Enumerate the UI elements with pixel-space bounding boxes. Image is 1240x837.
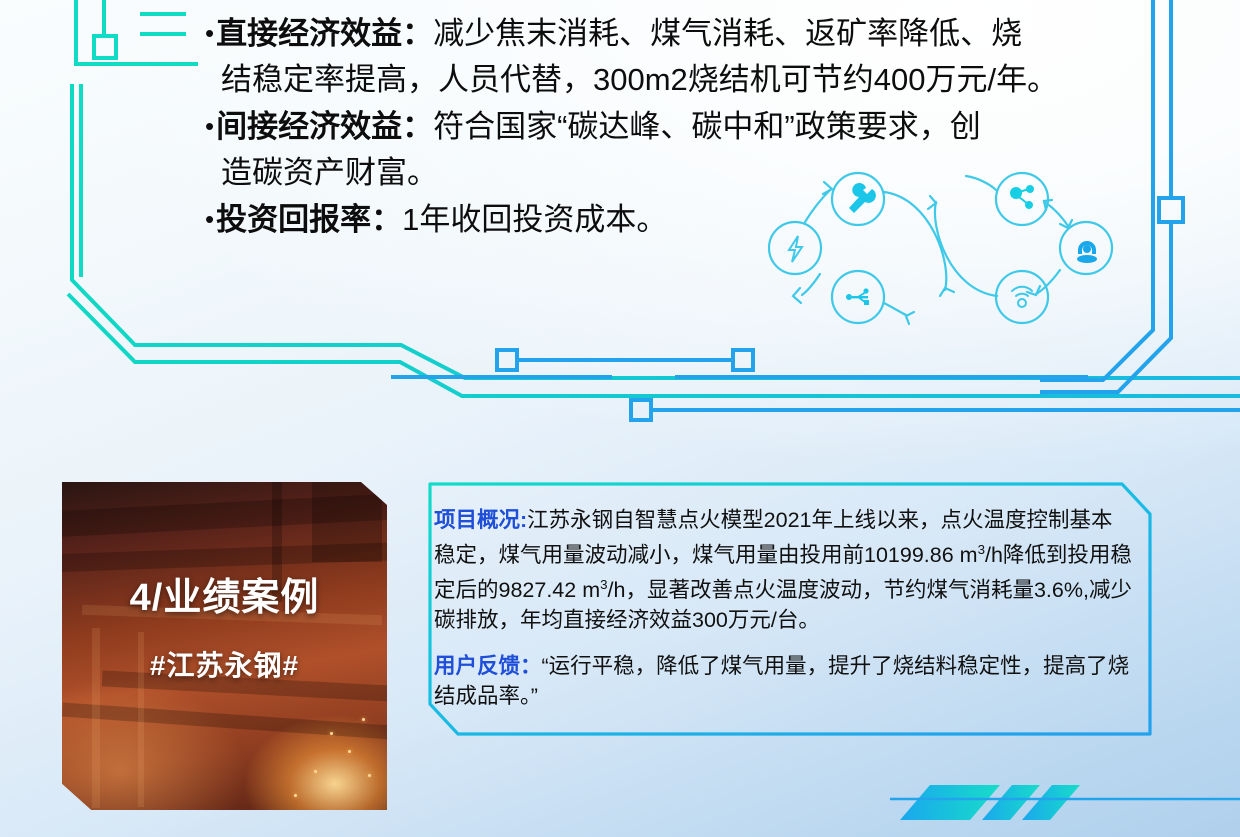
case-photo-subtitle: #江苏永钢# (62, 644, 387, 684)
project-overview-sup-a: 3 (978, 542, 985, 557)
loop-node-usb-icon (832, 271, 884, 323)
project-overview-paragraph: 项目概况:江苏永钢自智慧点火模型2021年上线以来，点火温度控制基本稳定，煤气用… (434, 505, 1132, 635)
circuit-node-squares (497, 350, 753, 420)
benefits-bullet-list: •直接经济效益：减少焦末消耗、煤气消耗、返矿率降低、烧 结稳定率提高，人员代替，… (205, 10, 1155, 243)
bullet-line-1: •投资回报率：1年收回投资成本。 (205, 196, 1155, 243)
bullet-label: 直接经济效益： (216, 16, 433, 51)
loop-node-wifi-icon (996, 271, 1048, 323)
bullet-label: 间接经济效益： (216, 109, 433, 144)
headset-icon (1077, 241, 1097, 263)
case-photo-title: 4/业绩案例 (62, 566, 387, 621)
bullet-text: 1年收回投资成本。 (402, 202, 667, 237)
bullet-line-2: 造碳资产财富。 (205, 150, 1155, 196)
project-overview-sup-b: 3 (600, 577, 607, 592)
bottom-right-arrow-marks (900, 785, 1080, 820)
bullet-line-1: •直接经济效益：减少焦末消耗、煤气消耗、返矿率降低、烧 (205, 10, 1155, 57)
bullet-line-1: •间接经济效益：符合国家“碳达峰、碳中和”政策要求，创 (205, 103, 1155, 150)
user-feedback-label: 用户反馈： (434, 654, 542, 678)
bullet-text-cont: 造碳资产财富。 (221, 155, 438, 190)
wifi-icon (1012, 287, 1032, 307)
bullet-item-direct-benefit: •直接经济效益：减少焦末消耗、煤气消耗、返矿率降低、烧 结稳定率提高，人员代替，… (205, 10, 1155, 103)
top-left-circuit-bracket (76, 0, 198, 64)
circuit-dashes (391, 360, 1240, 410)
bullet-marker: • (205, 111, 216, 141)
bullet-marker: • (205, 18, 216, 48)
usb-icon (846, 288, 869, 305)
case-photo-card: 4/业绩案例 #江苏永钢# (62, 482, 387, 810)
bullet-text: 符合国家“碳达峰、碳中和”政策要求，创 (433, 109, 981, 144)
project-overview-label: 项目概况: (434, 508, 527, 532)
user-feedback-paragraph: 用户反馈：“运行平稳，降低了煤气用量，提升了烧结料稳定性，提高了烧结成品率。” (434, 651, 1132, 711)
bullet-item-indirect-benefit: •间接经济效益：符合国家“碳达峰、碳中和”政策要求，创 造碳资产财富。 (205, 103, 1155, 196)
bullet-text-cont: 结稳定率提高，人员代替，300m2烧结机可节约400万元/年。 (221, 62, 1058, 97)
slide-root: •直接经济效益：减少焦末消耗、煤气消耗、返矿率降低、烧 结稳定率提高，人员代替，… (0, 0, 1240, 837)
bullet-line-2: 结稳定率提高，人员代替，300m2烧结机可节约400万元/年。 (205, 57, 1155, 103)
bullet-text: 减少焦末消耗、煤气消耗、返矿率降低、烧 (433, 16, 1022, 51)
case-info-box: 项目概况:江苏永钢自智慧点火模型2021年上线以来，点火温度控制基本稳定，煤气用… (414, 483, 1150, 737)
bullet-label: 投资回报率： (216, 202, 402, 237)
bullet-item-roi: •投资回报率：1年收回投资成本。 (205, 196, 1155, 243)
bullet-marker: • (205, 204, 216, 234)
